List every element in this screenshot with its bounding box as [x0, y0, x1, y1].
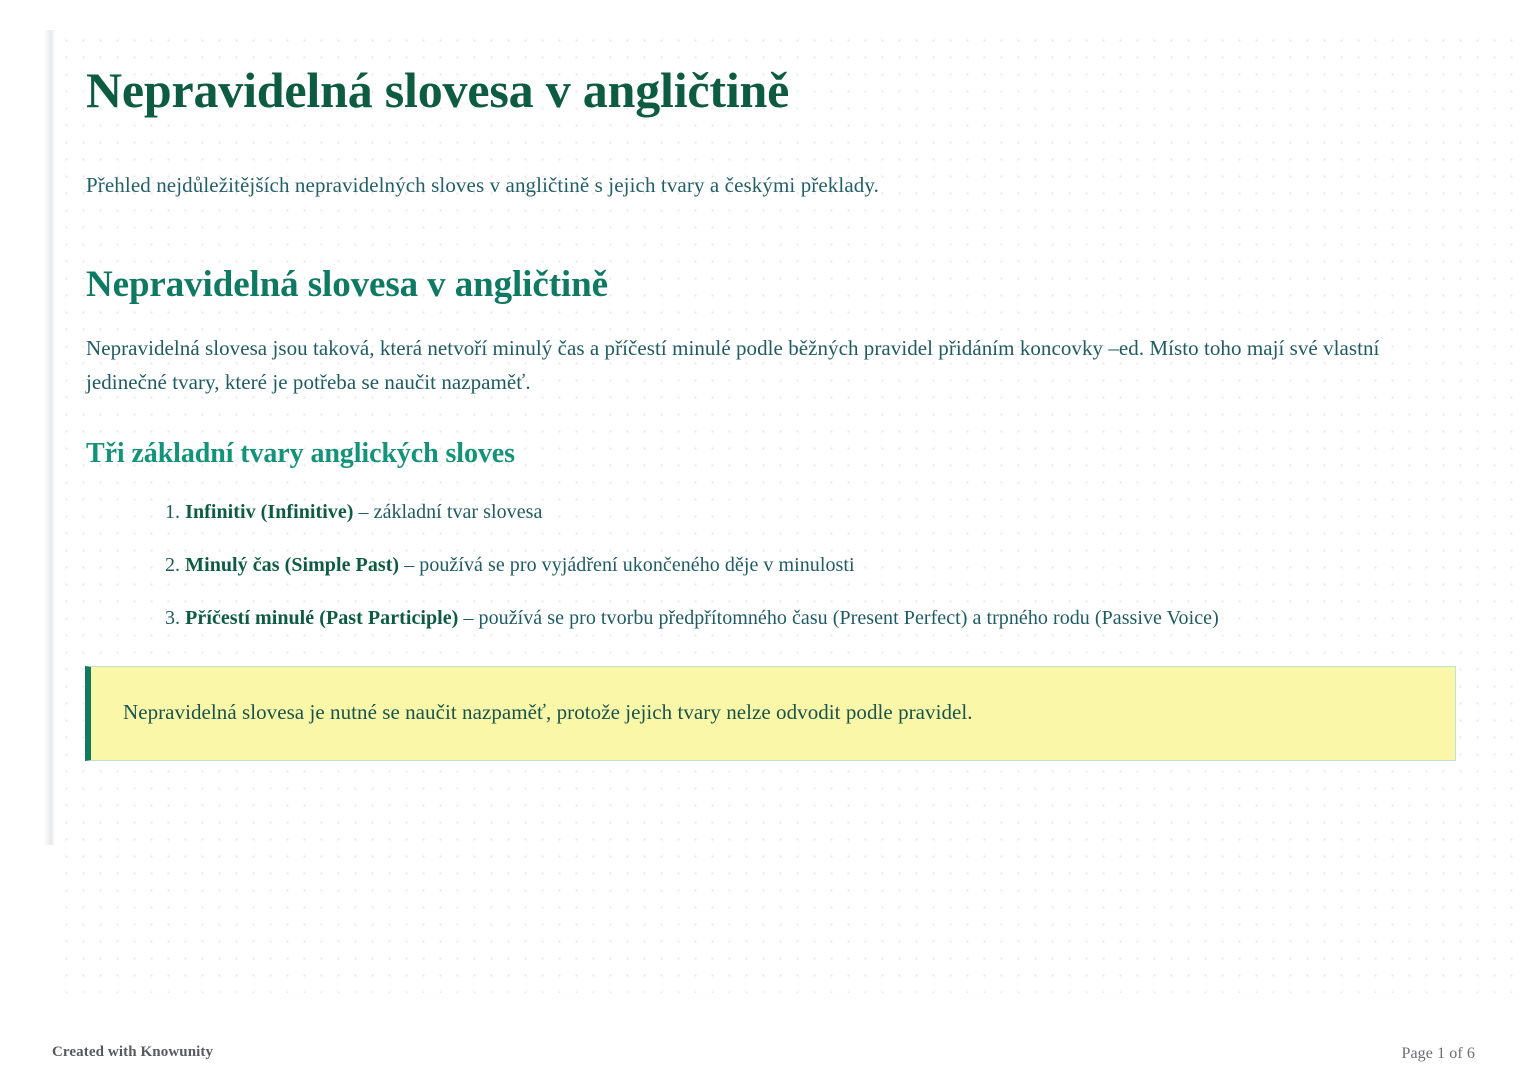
- document-subtitle: Přehled nejdůležitějších nepravidelných …: [86, 118, 1458, 202]
- section-paragraph: Nepravidelná slovesa jsou taková, která …: [86, 306, 1458, 399]
- list-item-description: – používá se pro tvorbu předpřítomného č…: [463, 607, 1218, 629]
- section-heading: Nepravidelná slovesa v angličtině: [86, 202, 1458, 307]
- list-item: 2. Minulý čas (Simple Past) – používá se…: [86, 527, 1458, 580]
- list-item-term: Příčestí minulé (Past Participle): [185, 607, 463, 629]
- page-left-edge-shadow: [44, 30, 54, 845]
- verb-forms-list: 1. Infinitiv (Infinitive) – základní tva…: [86, 471, 1458, 633]
- section-subheading: Tři základní tvary anglických sloves: [86, 399, 1458, 471]
- list-item: 3. Příčestí minulé (Past Participle) – p…: [86, 580, 1458, 633]
- footer-page-number: Page 1 of 6: [1401, 1045, 1475, 1063]
- list-item-number: 3.: [165, 607, 185, 629]
- list-item-term: Infinitiv (Infinitive): [185, 501, 358, 523]
- callout-box: Nepravidelná slovesa je nutné se naučit …: [85, 666, 1456, 761]
- document-page: Nepravidelná slovesa v angličtině Přehle…: [0, 0, 1527, 1080]
- list-item-term: Minulý čas (Simple Past): [185, 554, 404, 576]
- document-content: Nepravidelná slovesa v angličtině Přehle…: [86, 46, 1458, 761]
- list-item-description: – používá se pro vyjádření ukončeného dě…: [404, 554, 854, 576]
- list-item: 1. Infinitiv (Infinitive) – základní tva…: [86, 497, 1458, 527]
- footer-attribution: Created with Knowunity: [52, 1044, 213, 1061]
- page-title: Nepravidelná slovesa v angličtině: [86, 46, 1458, 118]
- list-item-number: 2.: [165, 554, 185, 576]
- callout-text: Nepravidelná slovesa je nutné se naučit …: [91, 697, 993, 729]
- list-item-number: 1.: [165, 501, 185, 523]
- list-item-description: – základní tvar slovesa: [359, 501, 543, 523]
